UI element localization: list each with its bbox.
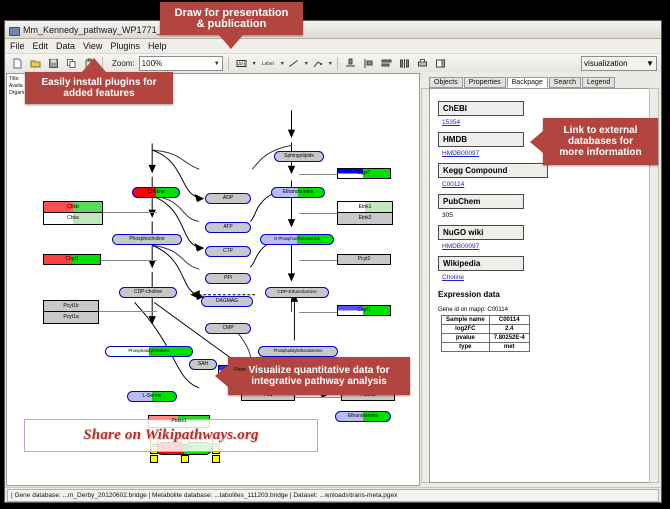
edge-line xyxy=(299,260,339,261)
node-label: Sgpl1 xyxy=(358,171,371,176)
db-link-kegg[interactable]: C00114 xyxy=(442,181,644,188)
chevron-down-icon: ▼ xyxy=(214,61,220,67)
menu-plugins[interactable]: Plugins xyxy=(110,41,140,51)
node-label: Chpt1 xyxy=(65,257,78,262)
tab-backpage[interactable]: Backpage xyxy=(507,77,548,88)
gene-group-pcyt1: Pcyt1b Pcyt1a xyxy=(43,300,99,324)
table-row: pvalue 7.80252E-4 xyxy=(442,334,530,343)
expression-table: Sample name C00114 log2FC 2.4 pvalue 7.8… xyxy=(441,315,530,352)
edge-line xyxy=(95,212,157,213)
tab-search[interactable]: Search xyxy=(549,77,581,88)
status-bar: | Gene database: ...m_Derby_20120602.bri… xyxy=(5,487,661,502)
table-row: Sample name C00114 xyxy=(442,316,530,325)
label-icon[interactable]: Label xyxy=(258,56,278,72)
callout-link-line3: more information xyxy=(559,147,641,158)
node-label: Ptdss1 xyxy=(171,419,186,424)
node-etnk1[interactable]: Etnk1 xyxy=(338,202,392,213)
node-label: Phosphatidylethanolamine xyxy=(273,349,322,353)
node-cdp-ethanolamine[interactable]: CDP-Ethanolamine xyxy=(265,287,329,298)
node-sgpl1[interactable]: Sgpl1 xyxy=(337,168,391,179)
node-o-phosphoethanolamine[interactable]: O-Phosphoethanolamine xyxy=(260,234,334,245)
anchor-line-icon[interactable] xyxy=(310,56,326,72)
db-header-pubchem: PubChem xyxy=(438,194,524,209)
cell-key: type xyxy=(442,343,490,352)
cell-value: met xyxy=(489,343,529,352)
save-icon[interactable] xyxy=(45,56,61,72)
callout-plugins: Easily install plugins for added feature… xyxy=(25,72,173,104)
node-adp[interactable]: ADP xyxy=(205,193,251,204)
node-ethanolamine-1[interactable]: Ethanolamine xyxy=(271,187,325,198)
menu-edit[interactable]: Edit xyxy=(33,41,49,51)
info-title-label: Title: xyxy=(9,76,24,83)
db-link-nugo[interactable]: HMDB00097 xyxy=(442,243,644,250)
align-bottom-icon[interactable] xyxy=(343,56,359,72)
callout-plugins-arrow xyxy=(82,58,106,72)
edge-line xyxy=(295,397,343,398)
node-label: SAH xyxy=(198,362,208,367)
node-label: Pcyt2 xyxy=(358,257,371,262)
db-header-hmdb: HMDB xyxy=(438,132,524,147)
menu-view[interactable]: View xyxy=(83,41,102,51)
copy-icon[interactable] xyxy=(63,56,79,72)
visualization-combo[interactable]: visualization ▼ xyxy=(581,56,657,71)
node-ctp[interactable]: CTP xyxy=(205,246,251,257)
pathway-info-labels: Title: Availa Organi xyxy=(9,76,24,97)
node-label: Chkb xyxy=(67,205,79,210)
node-label: DAGMAG xyxy=(216,299,238,304)
node-cept1[interactable]: Cept1 xyxy=(337,305,391,316)
stack-icon[interactable] xyxy=(379,56,395,72)
node-label: Ethanolamine xyxy=(348,414,379,419)
cell-value: 7.80252E-4 xyxy=(489,334,529,343)
callout-plugins-line2: added features xyxy=(63,88,134,99)
svg-text:AN: AN xyxy=(238,61,245,67)
chevron-down-icon[interactable]: ▾ xyxy=(253,60,256,67)
node-label: CDP-choline xyxy=(134,290,162,295)
node-phosphatidylcholines[interactable]: Phosphatidylcholines xyxy=(105,346,193,357)
callout-draw-line1: Draw for presentation xyxy=(175,8,289,19)
node-label: Etnk1 xyxy=(359,205,372,210)
node-label: CDP-Ethanolamine xyxy=(277,290,316,295)
node-pcyt2[interactable]: Pcyt2 xyxy=(337,254,391,265)
chevron-down-icon[interactable]: ▾ xyxy=(305,60,308,67)
expression-data-heading: Expression data xyxy=(438,290,644,299)
panel-icon[interactable] xyxy=(433,56,449,72)
callout-visualize-line2: integrative pathway analysis xyxy=(251,376,387,387)
callout-visualize-arrow xyxy=(215,365,228,387)
cell-key: pvalue xyxy=(442,334,490,343)
cell-value: 2.4 xyxy=(489,325,529,334)
node-cmp[interactable]: CMP xyxy=(205,323,251,334)
zoom-value: 100% xyxy=(142,59,162,68)
cell-key: Sample name xyxy=(442,316,490,325)
callout-visualize-line1: Visualize quantitative data for xyxy=(249,365,390,376)
node-dagmag[interactable]: DAGMAG xyxy=(201,296,253,307)
node-label: Chka xyxy=(67,216,79,221)
callout-link-arrow xyxy=(530,131,543,153)
node-label: L-Serine xyxy=(143,394,162,399)
edge-line xyxy=(95,260,157,261)
node-phosphocholine[interactable]: Phosphocholine xyxy=(112,234,182,245)
resize-handle[interactable] xyxy=(212,455,220,463)
chevron-down-icon[interactable]: ▾ xyxy=(281,60,284,67)
node-label: ATP xyxy=(223,225,232,230)
callout-link: Link to external databases for more info… xyxy=(543,118,658,165)
node-label: Choline xyxy=(148,190,165,195)
align-left-icon[interactable] xyxy=(361,56,377,72)
node-label: PPi xyxy=(224,276,232,281)
edge-line xyxy=(95,311,157,312)
tab-legend[interactable]: Legend xyxy=(582,77,615,88)
edge-line xyxy=(299,213,339,214)
node-label: Pcyt1b xyxy=(63,304,78,309)
distribute-icon[interactable] xyxy=(397,56,413,72)
db-value-pubchem: 305 xyxy=(442,212,644,219)
node-label: Cept1 xyxy=(357,308,370,313)
callout-draw-arrow xyxy=(219,35,243,49)
node-label: Phosphocholine xyxy=(129,237,165,242)
node-chka[interactable]: Chka xyxy=(44,213,102,224)
node-label: ADP xyxy=(223,196,233,201)
zoom-combo[interactable]: 100% ▼ xyxy=(139,56,223,71)
edge-line xyxy=(299,174,339,175)
tab-objects[interactable]: Objects xyxy=(429,77,463,88)
menu-help[interactable]: Help xyxy=(148,41,167,51)
callout-draw-line2: & publication xyxy=(197,19,267,30)
resize-handle[interactable] xyxy=(150,455,158,463)
print-preview-icon[interactable] xyxy=(415,56,431,72)
new-file-icon[interactable] xyxy=(9,56,25,72)
node-label: Phosphatidylcholines xyxy=(128,349,169,353)
node-chkb[interactable]: Chkb xyxy=(44,202,102,213)
zoom-label: Zoom: xyxy=(112,59,135,68)
node-choline-top[interactable]: Choline xyxy=(132,187,180,198)
node-label: Ethanolamine xyxy=(283,190,314,195)
node-label: O-Phosphoethanolamine xyxy=(274,237,320,241)
node-pcyt1b[interactable]: Pcyt1b xyxy=(44,301,98,312)
visualization-value: visualization xyxy=(584,59,628,68)
datanode-icon[interactable]: AN xyxy=(234,56,250,72)
callout-visualize: Visualize quantitative data for integrat… xyxy=(228,357,410,395)
toolbar-separator xyxy=(337,57,338,70)
node-atp[interactable]: ATP xyxy=(205,222,251,233)
node-sphingolipids[interactable]: Sphingolipids xyxy=(274,151,324,162)
resize-handle[interactable] xyxy=(181,455,189,463)
pathvisio-icon xyxy=(9,25,19,35)
tab-properties[interactable]: Properties xyxy=(464,77,506,88)
db-header-wikipedia: Wikipedia xyxy=(438,256,524,271)
cell-value: C00114 xyxy=(489,316,529,325)
node-chpt1[interactable]: Chpt1 xyxy=(43,254,101,265)
gene-group-chk: Chkb Chka xyxy=(43,201,103,225)
line-icon[interactable] xyxy=(286,56,302,72)
menu-file[interactable]: File xyxy=(10,41,25,51)
edge-line xyxy=(299,312,339,313)
node-label: Pemt xyxy=(234,368,246,373)
node-label: Pcyt1a xyxy=(63,315,78,320)
screenshot-root: Mm_Kennedy_pathway_WP1771_45176.gpml Fil… xyxy=(0,0,670,509)
node-pcyt1a[interactable]: Pcyt1a xyxy=(44,312,98,323)
node-label: Sphingolipids xyxy=(284,154,314,159)
node-ethanolamine-2[interactable]: Ethanolamine xyxy=(335,411,391,422)
node-label: Etnk2 xyxy=(359,216,372,221)
cell-key: log2FC xyxy=(442,325,490,334)
node-phosphatidylethanolamine[interactable]: Phosphatidylethanolamine xyxy=(258,346,338,357)
menu-bar: File Edit Data View Plugins Help xyxy=(5,39,661,54)
db-header-kegg: Kegg Compound xyxy=(438,163,548,178)
menu-data[interactable]: Data xyxy=(56,41,75,51)
node-sah[interactable]: SAH xyxy=(189,359,217,370)
node-label: CMP xyxy=(222,326,233,331)
gene-id-line: Gene id on mapp: C00114 xyxy=(438,307,644,313)
share-text: Share on Wikipathways.org xyxy=(83,427,258,444)
callout-draw: Draw for presentation & publication xyxy=(160,2,303,35)
node-label: CTP xyxy=(223,249,233,254)
open-folder-icon[interactable] xyxy=(27,56,43,72)
status-text: | Gene database: ...m_Derby_20120602.bri… xyxy=(7,489,659,502)
table-row: type met xyxy=(442,343,530,352)
side-panel-tabs: Objects Properties Backpage Search Legen… xyxy=(429,75,616,88)
info-available-label: Availa xyxy=(9,83,24,90)
toolbar-separator xyxy=(228,57,229,70)
node-ppi[interactable]: PPi xyxy=(205,273,251,284)
db-link-wikipedia[interactable]: Choline xyxy=(442,274,644,281)
db-header-nugo: NuGO wiki xyxy=(438,225,524,240)
callout-link-line1: Link to external xyxy=(564,125,638,136)
node-l-serine-left[interactable]: L-Serine xyxy=(127,391,177,402)
info-organism-label: Organi xyxy=(9,90,24,97)
node-cdp-choline[interactable]: CDP-choline xyxy=(119,287,177,298)
gene-group-etnk: Etnk1 Etnk2 xyxy=(337,201,393,225)
node-etnk2[interactable]: Etnk2 xyxy=(338,213,392,224)
callout-plugins-line1: Easily install plugins for xyxy=(41,77,156,88)
table-row: log2FC 2.4 xyxy=(442,325,530,334)
callout-link-line2: databases for xyxy=(568,136,633,147)
db-header-chebi: ChEBI xyxy=(438,101,524,116)
chevron-down-icon: ▼ xyxy=(646,59,654,68)
chevron-down-icon[interactable]: ▾ xyxy=(329,60,332,67)
title-bar: Mm_Kennedy_pathway_WP1771_45176.gpml xyxy=(5,21,661,39)
